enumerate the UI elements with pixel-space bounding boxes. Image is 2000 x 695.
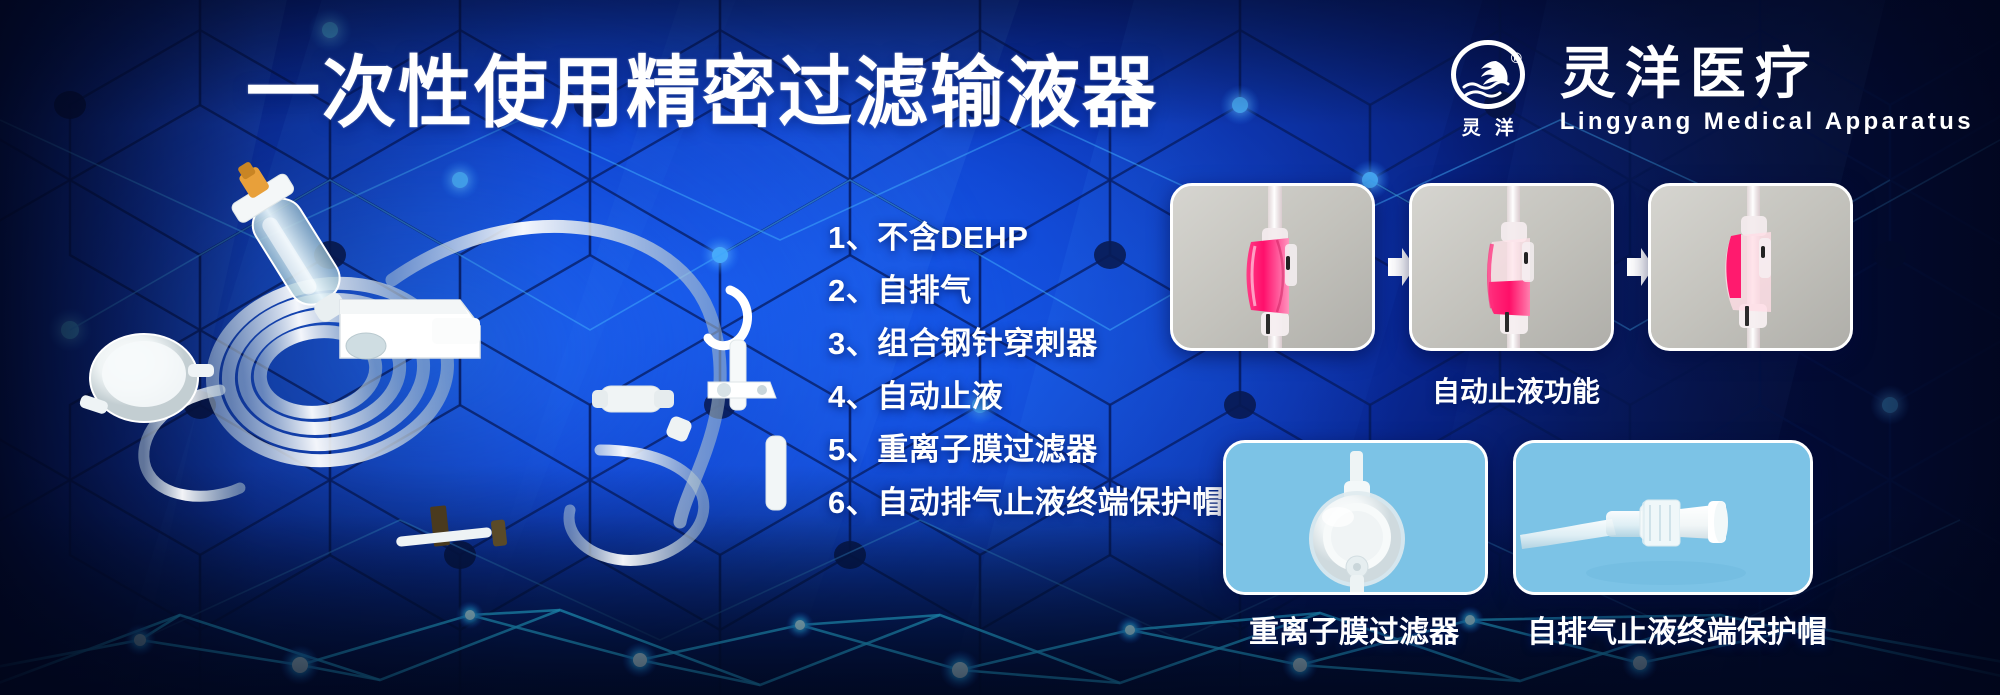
product-illustration — [40, 150, 800, 580]
feature-item-5: 5、重离子膜过滤器 — [828, 434, 1224, 465]
drip-chamber-empty-photo — [1651, 186, 1853, 351]
drip-chamber-half-photo — [1412, 186, 1614, 351]
feature-item-6: 6、自动排气止液终端保护帽 — [828, 487, 1224, 518]
showcase-filter-caption: 重离子膜过滤器 — [1249, 618, 1459, 648]
injection-port-part — [592, 386, 693, 443]
showcase-cap-caption: 自排气止液终端保护帽 — [1527, 618, 1827, 648]
brand-seal-caption: 灵洋 — [1448, 113, 1528, 140]
showcase-panel-2 — [1409, 183, 1614, 351]
membrane-filter-part — [79, 334, 214, 422]
wave-circle-seal-icon: ® — [1451, 40, 1525, 109]
drip-chamber-full-photo — [1173, 186, 1375, 351]
feature-item-1: 1、不含DEHP — [828, 222, 1224, 253]
showcase-filter-panel — [1223, 440, 1488, 595]
feature-item-4: 4、自动止液 — [828, 381, 1224, 412]
tube-tag-part — [396, 505, 508, 547]
brand-name-cn: 灵洋医疗 — [1560, 44, 1974, 104]
membrane-filter-photo — [1226, 443, 1488, 595]
showcase-panel-1 — [1170, 183, 1375, 351]
brand-logo: ® 灵洋 灵洋医疗 Lingyang Medical Apparatus — [1440, 40, 1974, 140]
feature-item-2: 2、自排气 — [828, 275, 1224, 306]
terminal-protective-cap-photo — [1516, 443, 1813, 595]
feature-list: 1、不含DEHP 2、自排气 3、组合钢针穿刺器 4、自动止液 5、重离子膜过滤… — [828, 222, 1224, 518]
feature-item-3: 3、组合钢针穿刺器 — [828, 328, 1224, 359]
showcase-cap-panel — [1513, 440, 1813, 595]
brand-seal-block: ® 灵洋 — [1440, 40, 1536, 140]
product-banner: 一次性使用精密过滤输液器 ® 灵洋 灵洋医疗 Lingyang Medical … — [0, 0, 2000, 695]
banner-title: 一次性使用精密过滤输液器 — [246, 48, 1158, 138]
showcase-top-caption: 自动止液功能 — [1432, 378, 1600, 406]
brand-text-block: 灵洋医疗 Lingyang Medical Apparatus — [1560, 44, 1974, 136]
infusion-set-product-photo — [40, 150, 800, 570]
registered-trademark-icon: ® — [1511, 51, 1522, 66]
brand-name-en: Lingyang Medical Apparatus — [1560, 108, 1974, 136]
showcase-panel-3 — [1648, 183, 1853, 351]
roller-clamp-part — [340, 300, 480, 359]
